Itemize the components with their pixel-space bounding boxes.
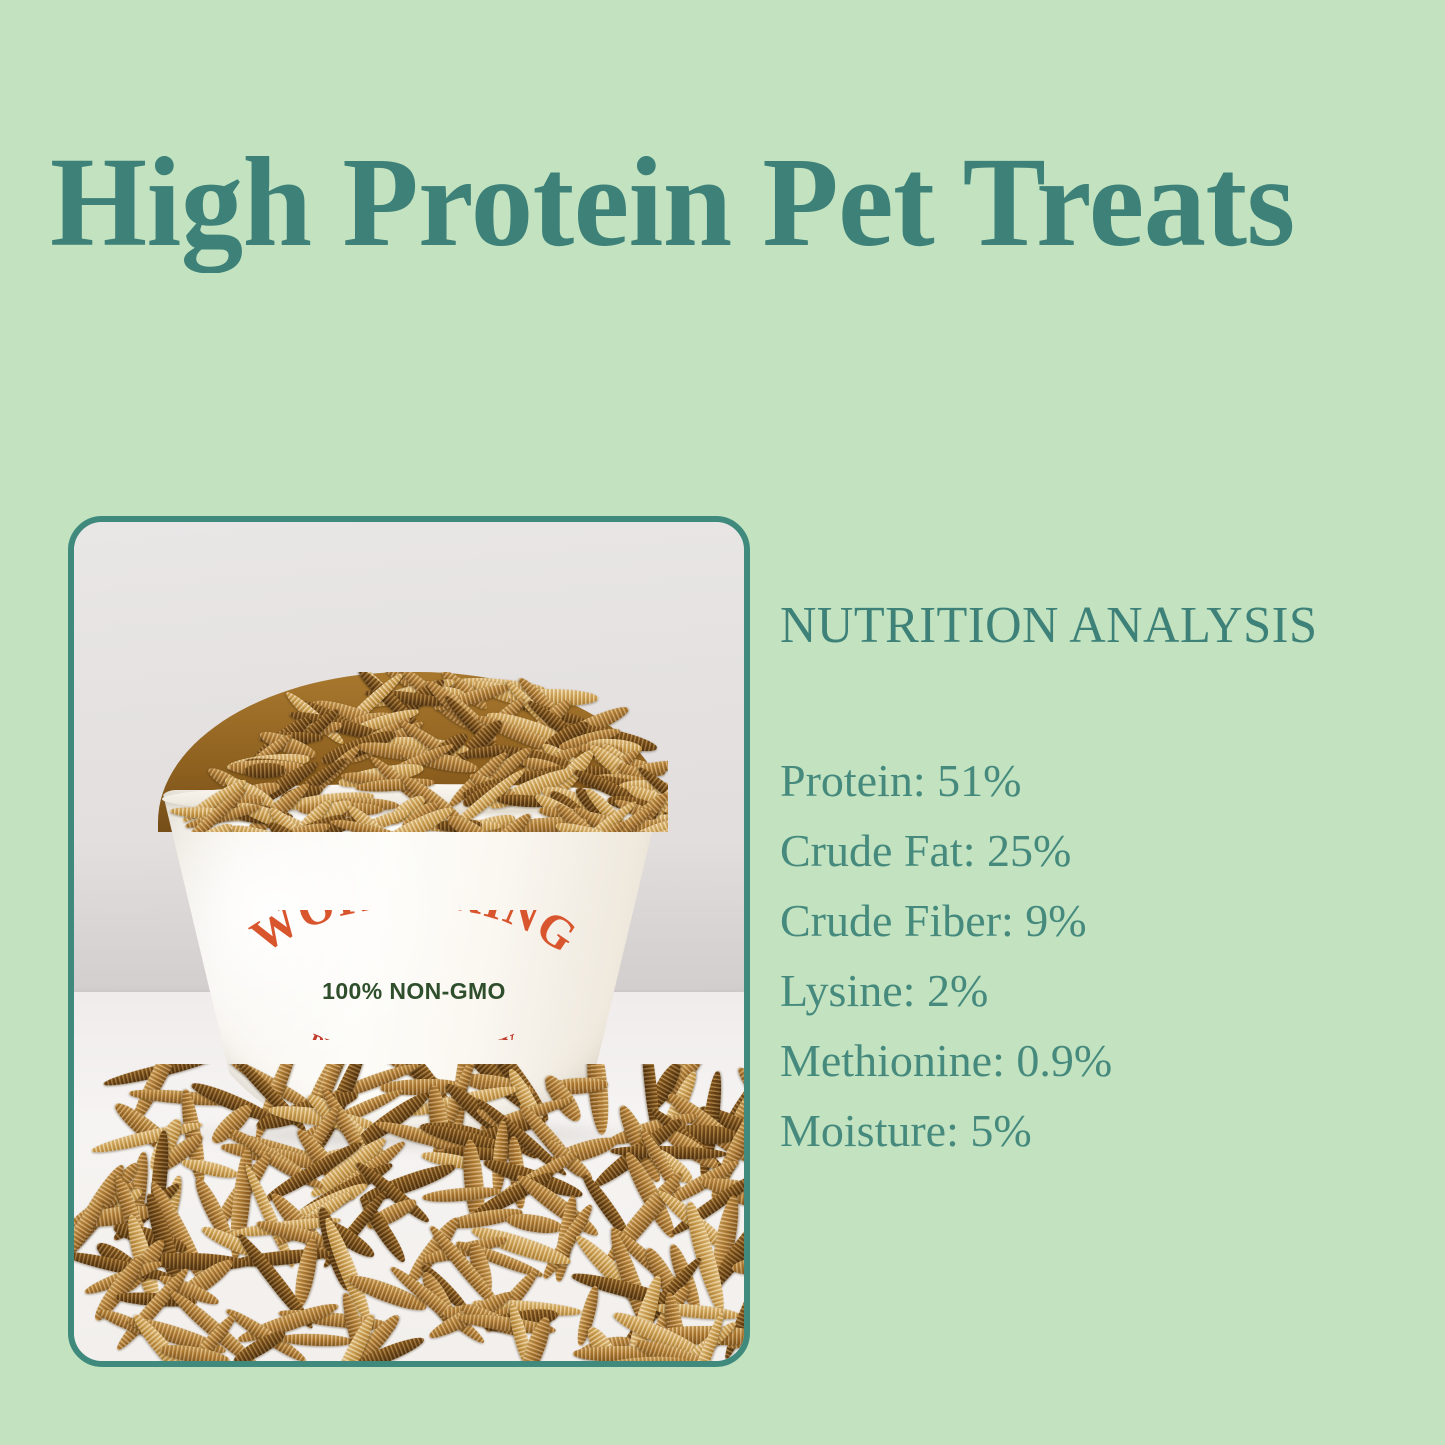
product-photo-frame: WORMSKING 100% NON-GMO PREMIUM QUALITY bbox=[68, 516, 750, 1367]
nutrition-heading: NUTRITION ANALYSIS bbox=[780, 598, 1401, 654]
nutrition-item: Crude Fiber: 9% bbox=[780, 886, 1420, 956]
nutrition-panel: NUTRITION ANALYSIS Protein: 51%Crude Fat… bbox=[780, 598, 1420, 1166]
nutrition-item: Methionine: 0.9% bbox=[780, 1026, 1420, 1096]
mealworm-scatter bbox=[74, 1064, 744, 1361]
product-photo: WORMSKING 100% NON-GMO PREMIUM QUALITY bbox=[74, 522, 744, 1361]
product-infographic: High Protein Pet Treats bbox=[0, 0, 1445, 1445]
nutrition-item: Moisture: 5% bbox=[780, 1096, 1420, 1166]
nutrition-item: Crude Fat: 25% bbox=[780, 816, 1420, 886]
nutrition-list: Protein: 51%Crude Fat: 25%Crude Fiber: 9… bbox=[780, 746, 1420, 1166]
mealworm bbox=[584, 1064, 612, 1135]
nutrition-item: Protein: 51% bbox=[780, 746, 1420, 816]
mealworm-pile bbox=[158, 672, 668, 832]
nutrition-item: Lysine: 2% bbox=[780, 956, 1420, 1026]
page-title: High Protein Pet Treats bbox=[50, 141, 1376, 263]
mealworm bbox=[180, 1156, 239, 1182]
